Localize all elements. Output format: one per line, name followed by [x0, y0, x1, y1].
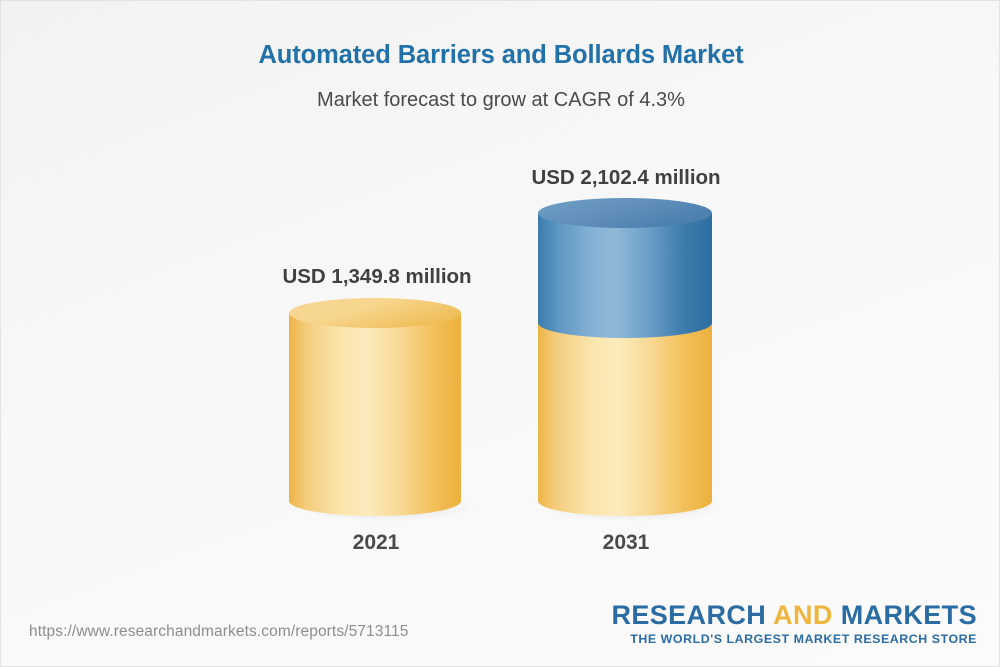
value-label-2031: USD 2,102.4 million: [426, 166, 826, 190]
value-label-2021: USD 1,349.8 million: [177, 265, 577, 289]
logo-word-markets: MARKETS: [841, 600, 977, 630]
logo-word-research: RESEARCH: [611, 600, 766, 630]
logo-word-and: AND: [773, 600, 833, 630]
bar-cylinder-2021: [287, 301, 469, 523]
source-url[interactable]: https://www.researchandmarkets.com/repor…: [29, 623, 408, 641]
infographic-canvas: Automated Barriers and Bollards Market M…: [0, 0, 1000, 667]
chart-plot-area: USD 1,349.8 million USD 2,102.4 million …: [1, 1, 1000, 601]
logo-tagline: THE WORLD'S LARGEST MARKET RESEARCH STOR…: [611, 632, 977, 646]
bar-cylinder-2031: [535, 201, 721, 523]
category-label-2031: 2031: [526, 531, 726, 555]
research-and-markets-logo: RESEARCH AND MARKETS THE WORLD'S LARGEST…: [611, 601, 977, 646]
logo-wordmark: RESEARCH AND MARKETS: [611, 601, 977, 629]
category-label-2021: 2021: [276, 531, 476, 555]
